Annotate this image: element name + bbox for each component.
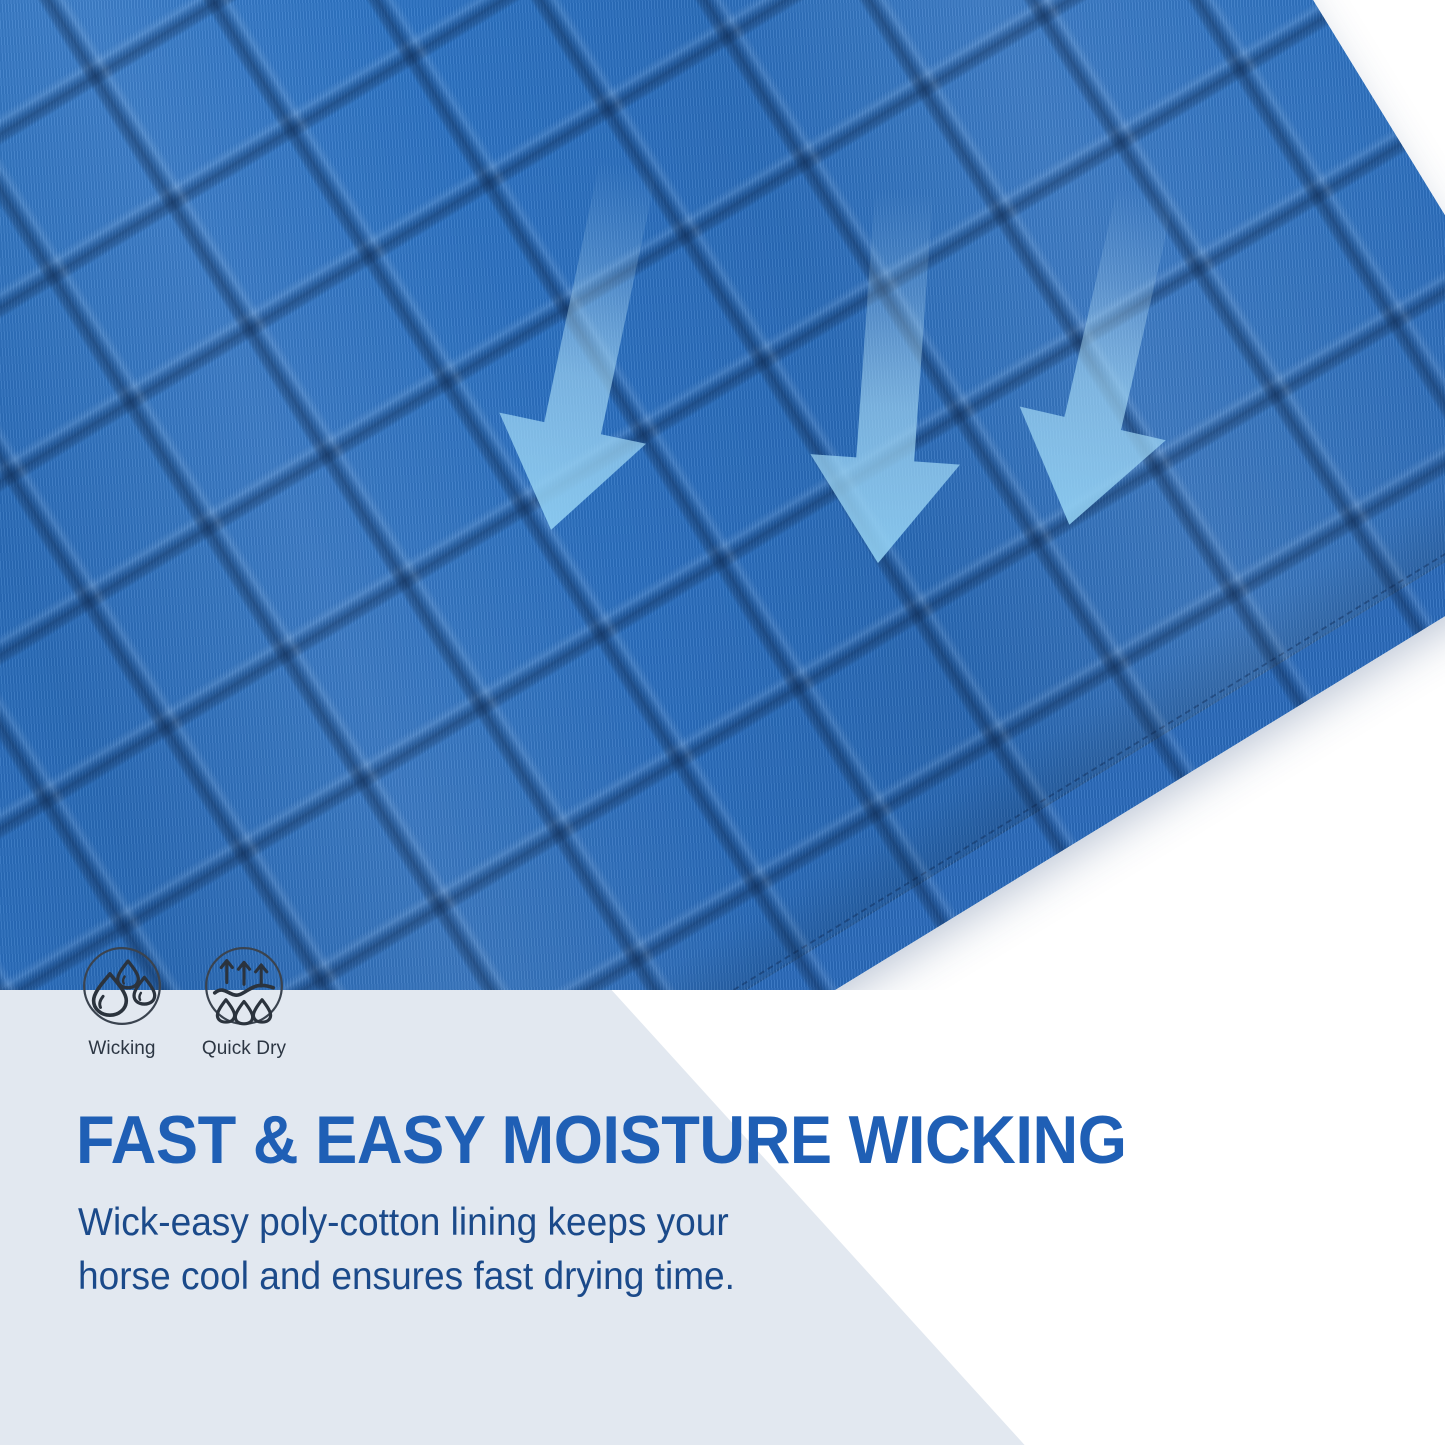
- pad-edge-binding: [0, 0, 1445, 990]
- feature-label-wicking: Wicking: [88, 1038, 155, 1060]
- quilted-fabric-surface: [0, 0, 1445, 990]
- saddle-pad-image: [0, 0, 1445, 990]
- feature-icon-row: Wicking Quick Dry: [74, 943, 292, 1060]
- binding-stitch-line: [0, 0, 1445, 990]
- body-copy: Wick-easy poly-cotton lining keeps your …: [78, 1196, 800, 1304]
- binding-weave-texture: [0, 0, 1445, 990]
- water-droplets-icon: [79, 943, 165, 1029]
- feature-graphic-canvas: Wicking Quick Dry: [0, 0, 1445, 1445]
- feature-wicking: Wicking: [74, 943, 170, 1060]
- page-title: FAST & EASY MOISTURE WICKING: [76, 1106, 1126, 1174]
- feature-quick-dry: Quick Dry: [196, 943, 292, 1060]
- feature-label-quick-dry: Quick Dry: [202, 1038, 286, 1060]
- quick-dry-icon: [201, 943, 287, 1029]
